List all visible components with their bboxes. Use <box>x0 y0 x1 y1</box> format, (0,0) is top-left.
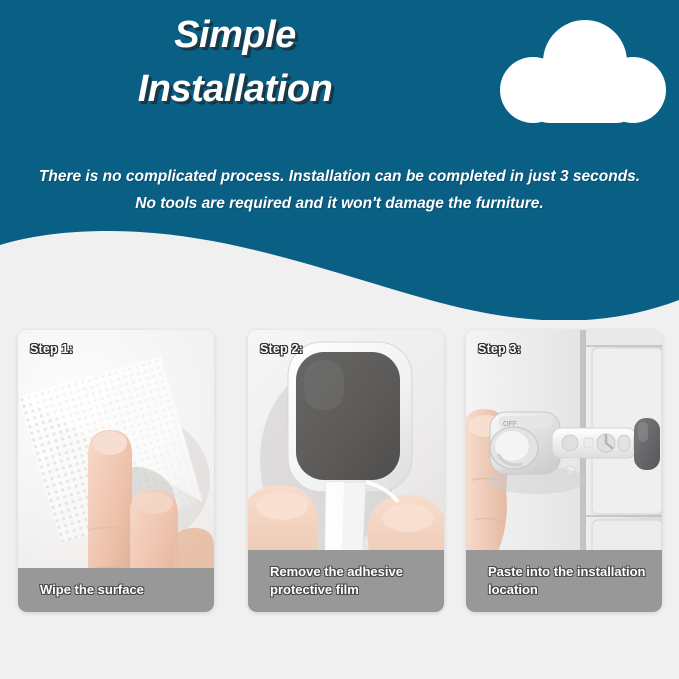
step-3-label: Paste into the installation location <box>466 550 662 612</box>
installation-infographic: Simple Installation There is no complica… <box>0 0 679 679</box>
step-card-1[interactable]: Step 1: Wipe the surface <box>18 330 214 612</box>
step-3-tag: Step 3: <box>478 342 521 356</box>
step-card-2[interactable]: Step 2: Remove the adhesive protective f… <box>248 330 444 612</box>
steps-container: Step 1: Wipe the surface <box>0 0 679 679</box>
step-2-tag: Step 2: <box>260 342 303 356</box>
step-2-label: Remove the adhesive protective film <box>248 550 444 612</box>
step-1-tag: Step 1: <box>30 342 73 356</box>
step-card-3[interactable]: OFF <box>466 330 662 612</box>
step-1-label: Wipe the surface <box>18 568 214 612</box>
